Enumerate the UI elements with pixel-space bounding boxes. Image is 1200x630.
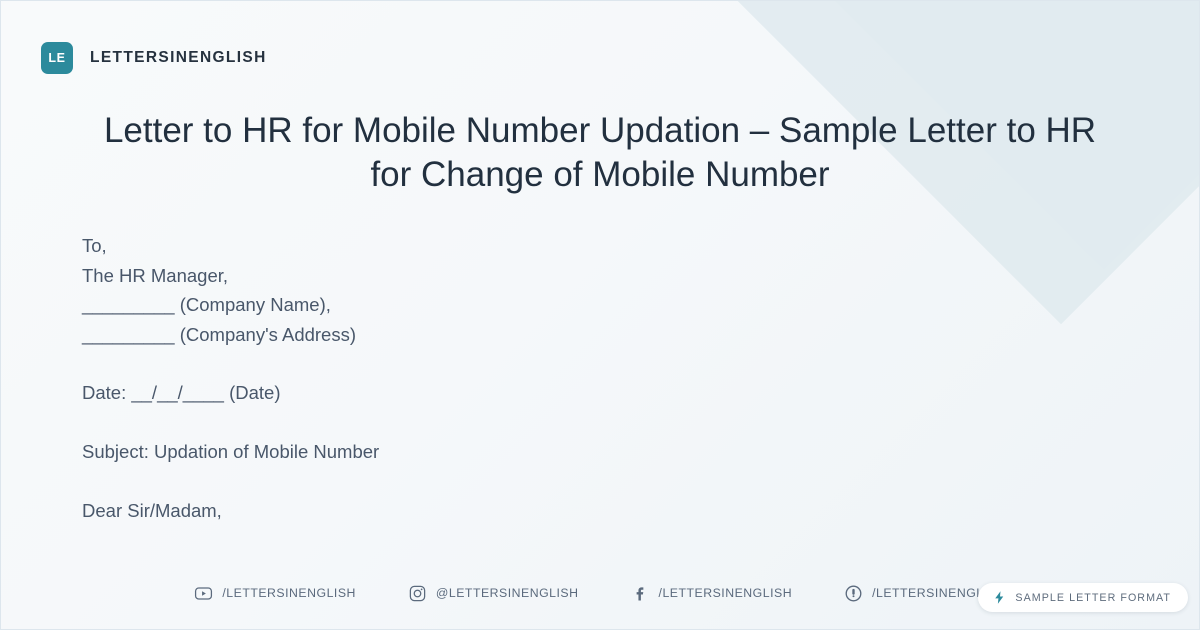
social-link-youtube[interactable]: /LETTERSINENGLISH [194,584,356,603]
date-line: Date: __/__/____ (Date) [82,378,379,408]
letter-body: To, The HR Manager, _________ (Company N… [82,231,379,525]
pinterest-icon [844,584,863,603]
address-line-recipient: The HR Manager, [82,261,379,291]
social-handle: /LETTERSINENGLISH [659,586,793,600]
social-handle: @LETTERSINENGLISH [436,586,579,600]
brand-mark-icon: LE [41,42,73,74]
youtube-icon [194,584,213,603]
page-title: Letter to HR for Mobile Number Updation … [1,109,1199,197]
facebook-icon [631,584,650,603]
address-line-company-address: _________ (Company's Address) [82,320,379,350]
brand-name-label: LETTERSINENGLISH [90,49,267,67]
salutation-line: Dear Sir/Madam, [82,496,379,526]
address-line-company: _________ (Company Name), [82,290,379,320]
address-line-to: To, [82,231,379,261]
social-handle: /LETTERSINENGLISH [222,586,356,600]
social-links: /LETTERSINENGLISH @LETTERSINENGLISH [194,584,1005,603]
social-link-instagram[interactable]: @LETTERSINENGLISH [408,584,579,603]
instagram-icon [408,584,427,603]
sample-letter-format-badge[interactable]: SAMPLE LETTER FORMAT [978,583,1188,612]
lightning-bolt-icon [992,590,1007,605]
badge-label: SAMPLE LETTER FORMAT [1015,592,1171,604]
recipient-address-block: To, The HR Manager, _________ (Company N… [82,231,379,349]
letter-card: LE LETTERSINENGLISH Letter to HR for Mob… [0,0,1200,630]
social-link-facebook[interactable]: /LETTERSINENGLISH [631,584,793,603]
subject-line: Subject: Updation of Mobile Number [82,437,379,467]
brand-logo[interactable]: LE LETTERSINENGLISH [41,42,267,74]
card-content: LE LETTERSINENGLISH Letter to HR for Mob… [1,1,1199,629]
